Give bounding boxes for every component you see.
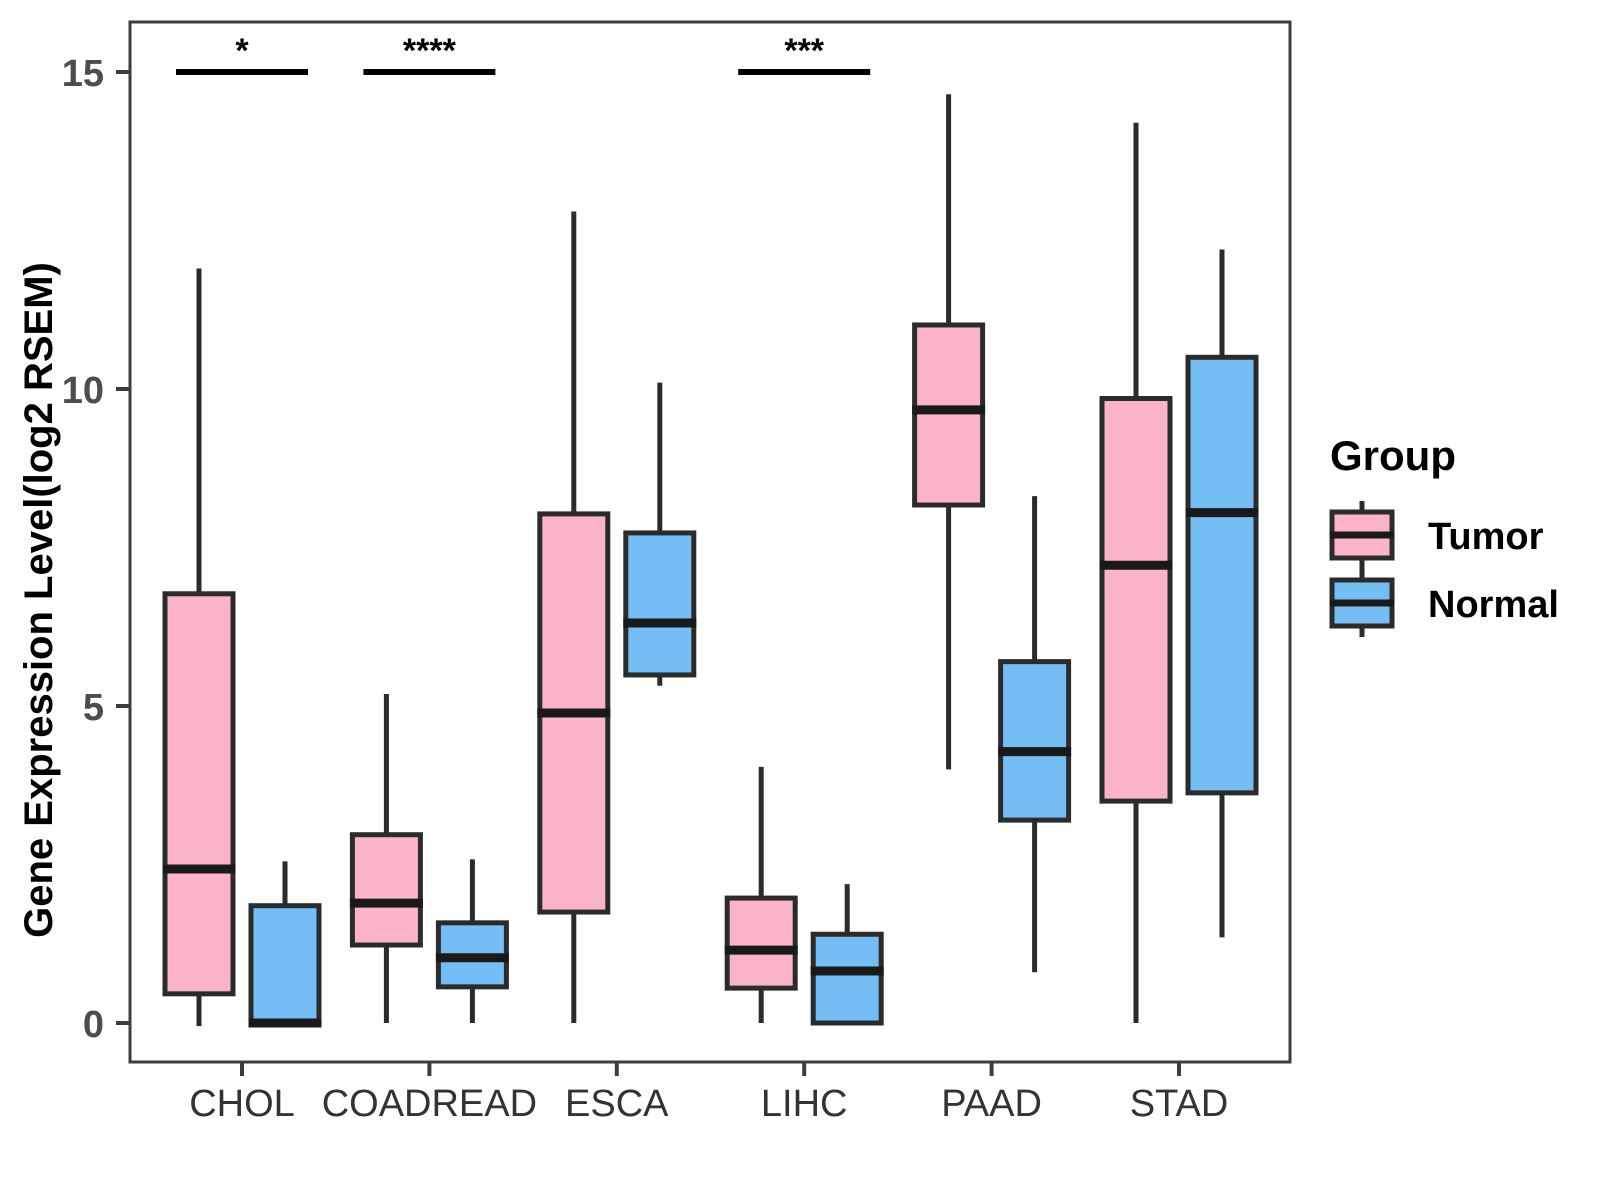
x-tick-label-chol: CHOL: [189, 1083, 295, 1125]
significance-label: ****: [403, 32, 457, 70]
box-rect: [813, 934, 881, 1023]
legend-item-label: Normal: [1428, 584, 1559, 626]
significance-label: *: [235, 32, 249, 70]
box-rect: [727, 898, 795, 988]
y-tick-label: 0: [83, 1004, 104, 1046]
legend-title: Group: [1330, 432, 1456, 479]
y-tick-label: 5: [83, 687, 104, 729]
y-axis-ticks: 051015: [62, 53, 130, 1046]
box-rect: [1102, 399, 1170, 802]
x-tick-label-stad: STAD: [1130, 1083, 1229, 1125]
x-tick-label-paad: PAAD: [941, 1083, 1042, 1125]
legend-item-tumor[interactable]: Tumor: [1330, 501, 1544, 569]
x-axis-category-labels: CHOLCOADREADESCALIHCPAADSTAD: [189, 1062, 1228, 1125]
box-rect: [915, 325, 983, 505]
box-rect: [165, 594, 233, 994]
y-tick-label: 15: [62, 53, 104, 95]
x-tick-label-coadread: COADREAD: [322, 1083, 537, 1125]
legend-item-label: Tumor: [1428, 516, 1544, 558]
chart-root: 051015 ******** CHOLCOADREADESCALIHCPAAD…: [0, 0, 1600, 1200]
box-rect: [1001, 662, 1069, 821]
box-rect: [1188, 357, 1256, 793]
box-rect: [251, 906, 319, 1023]
y-tick-label: 10: [62, 370, 104, 412]
boxplot-chart: 051015 ******** CHOLCOADREADESCALIHCPAAD…: [0, 0, 1600, 1200]
legend[interactable]: GroupTumorNormal: [1330, 432, 1559, 637]
legend-item-normal[interactable]: Normal: [1330, 569, 1559, 637]
x-tick-label-esca: ESCA: [565, 1083, 669, 1125]
significance-label: ***: [784, 32, 824, 70]
x-tick-label-lihc: LIHC: [761, 1083, 848, 1125]
box-rect: [352, 835, 420, 945]
box-rect: [626, 533, 694, 675]
y-axis-title: Gene Expression Level(log2 RSEM): [17, 262, 61, 938]
